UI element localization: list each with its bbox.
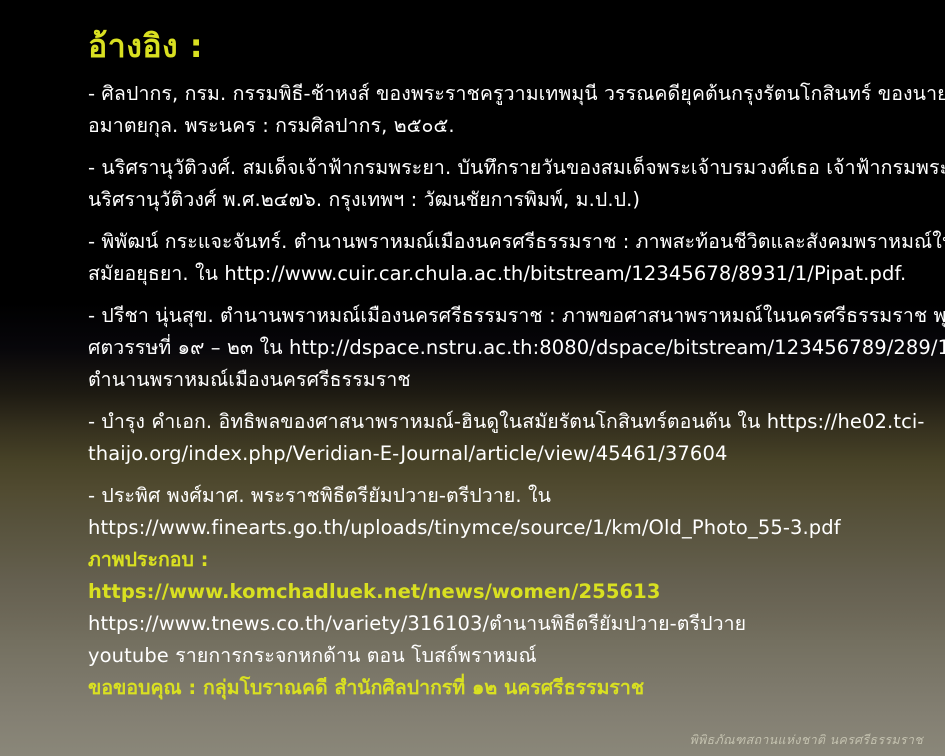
illustration-links: https://www.komchadluek.net/news/women/2… — [88, 576, 930, 672]
museum-watermark: พิพิธภัณฑสถานแห่งชาติ นครศรีธรรมราช — [689, 730, 923, 750]
reference-line: - พิพัฒน์ กระแจะจันทร์. ตำนานพราหมณ์เมือ… — [88, 226, 930, 258]
reference-line: อมาตยกุล. พระนคร : กรมศิลปากร, ๒๕๐๕. — [88, 110, 930, 142]
slide-content: อ้างอิง : - ศิลปากร, กรม. กรรมพิธี-ช้าหง… — [88, 26, 930, 704]
slide-canvas: อ้างอิง : - ศิลปากร, กรม. กรรมพิธี-ช้าหง… — [0, 0, 945, 756]
reference-line: - ศิลปากร, กรม. กรรมพิธี-ช้าหงส์ ของพระร… — [88, 78, 930, 110]
reference-line: - บำรุง คำเอก. อิทธิพลของศาสนาพราหมณ์-ฮิ… — [88, 406, 930, 438]
reference-line: ตำนานพราหมณ์เมืองนครศรีธรรมราช — [88, 364, 930, 396]
reference-line: - ปรีชา นุ่นสุข. ตำนานพราหมณ์เมืองนครศรี… — [88, 300, 930, 332]
reference-item: - พิพัฒน์ กระแจะจันทร์. ตำนานพราหมณ์เมือ… — [88, 226, 930, 290]
reference-line: นริศรานุวัติวงศ์ พ.ศ.๒๔๗๖. กรุงเทพฯ : วั… — [88, 184, 930, 216]
reference-item: - บำรุง คำเอก. อิทธิพลของศาสนาพราหมณ์-ฮิ… — [88, 406, 930, 470]
reference-line: - นริศรานุวัติวงศ์. สมเด็จเจ้าฟ้ากรมพระย… — [88, 152, 930, 184]
reference-line: https://www.finearts.go.th/uploads/tinym… — [88, 512, 930, 544]
illustration-link[interactable]: https://www.tnews.co.th/variety/316103/ต… — [88, 608, 930, 640]
illustration-link[interactable]: https://www.komchadluek.net/news/women/2… — [88, 576, 930, 608]
reference-line: - ประพิศ พงศ์มาศ. พระราชพิธีตรียัมปวาย-ต… — [88, 480, 930, 512]
illustrations-heading: ภาพประกอบ : — [88, 544, 930, 576]
reference-item: - ปรีชา นุ่นสุข. ตำนานพราหมณ์เมืองนครศรี… — [88, 300, 930, 396]
illustration-link[interactable]: youtube รายการกระจกหกด้าน ตอน โบสถ์พราหม… — [88, 640, 930, 672]
reference-line: ศตวรรษที่ ๑๙ – ๒๓ ใน http://dspace.nstru… — [88, 332, 930, 364]
reference-line: สมัยอยุธยา. ใน http://www.cuir.car.chula… — [88, 258, 930, 290]
reference-item: - ศิลปากร, กรม. กรรมพิธี-ช้าหงส์ ของพระร… — [88, 78, 930, 142]
reference-item: - นริศรานุวัติวงศ์. สมเด็จเจ้าฟ้ากรมพระย… — [88, 152, 930, 216]
reference-line: thaijo.org/index.php/Veridian-E-Journal/… — [88, 438, 930, 470]
acknowledgement-text: ขอขอบคุณ : กลุ่มโบราณคดี สำนักศิลปากรที่… — [88, 672, 930, 704]
page-title: อ้างอิง : — [88, 26, 930, 66]
reference-item: - ประพิศ พงศ์มาศ. พระราชพิธีตรียัมปวาย-ต… — [88, 480, 930, 544]
